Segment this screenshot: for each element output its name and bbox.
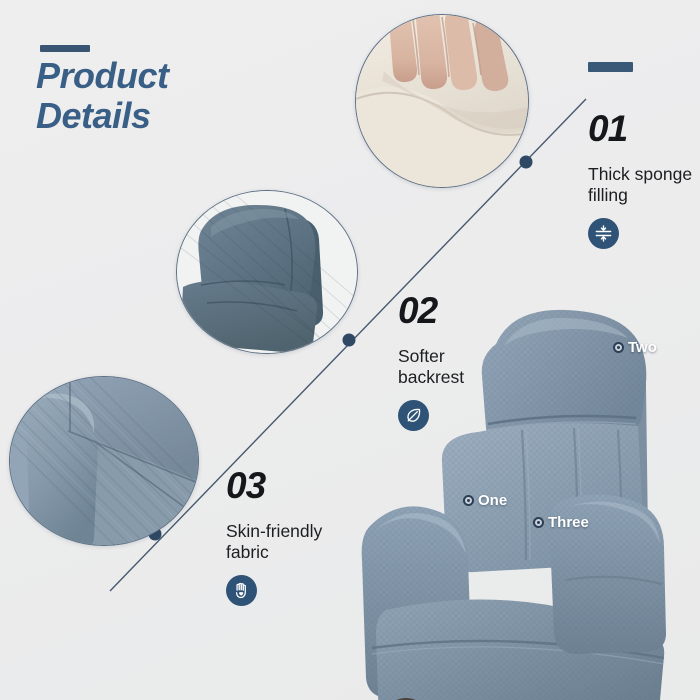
- callout-two-label: Two: [628, 339, 657, 356]
- callout-three[interactable]: Three: [533, 514, 589, 531]
- callout-marker-icon: [533, 517, 544, 528]
- step-03-caption: Skin-friendly fabric: [226, 521, 322, 564]
- step-03-number: 03: [226, 467, 265, 508]
- step-03: 03 Skin-friendly fabric: [226, 467, 322, 606]
- backrest-cushion-photo: [176, 190, 358, 354]
- step-02-number: 02: [398, 292, 437, 333]
- step-02: 02 Softer backrest: [398, 292, 464, 431]
- callout-one-label: One: [478, 492, 507, 509]
- page-title: Product Details: [36, 56, 296, 137]
- product-details-infographic: Product Details: [0, 0, 700, 700]
- hand-heart-icon: [226, 575, 257, 606]
- callout-one[interactable]: One: [463, 492, 507, 509]
- feather-leaf-icon: [398, 400, 429, 431]
- step-01-accent-bar: [588, 62, 633, 72]
- callout-marker-icon: [463, 495, 474, 506]
- connector-dot-1: [520, 156, 533, 169]
- callout-marker-icon: [613, 342, 624, 353]
- step-01-number: 01: [588, 110, 627, 151]
- callout-two[interactable]: Two: [613, 339, 657, 356]
- connector-dot-2: [343, 334, 356, 347]
- step-01: 01 Thick sponge filling: [588, 110, 692, 249]
- step-01-caption: Thick sponge filling: [588, 164, 692, 207]
- armrest-fabric-photo: [9, 376, 199, 546]
- callout-three-label: Three: [548, 514, 589, 531]
- step-02-caption: Softer backrest: [398, 346, 464, 389]
- title-accent-bar: [40, 45, 90, 52]
- sponge-press-photo: [355, 14, 529, 188]
- compress-thickness-icon: [588, 218, 619, 249]
